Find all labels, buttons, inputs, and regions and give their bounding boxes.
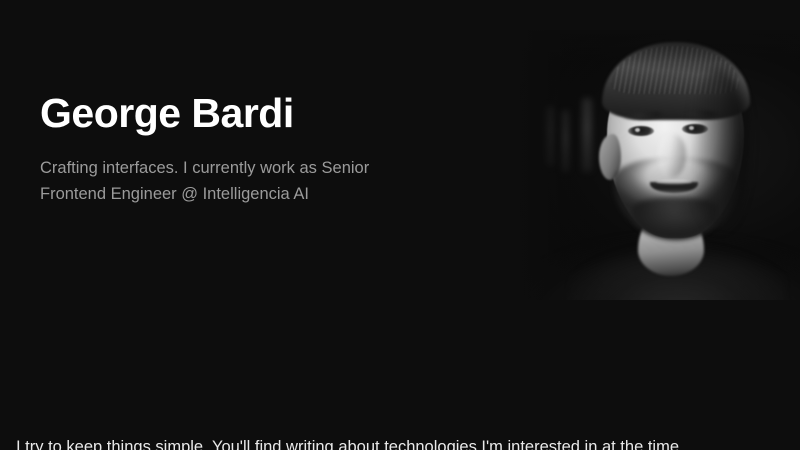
photo-eye-highlight [635,128,640,132]
background-light-bar [582,98,592,172]
photo-eye [628,126,654,136]
photo-mouth-highlight [656,180,692,184]
profile-page: George Bardi Crafting interfaces. I curr… [0,0,800,450]
background-light-bar [546,106,554,166]
hero-section: George Bardi Crafting interfaces. I curr… [40,92,460,207]
photo-backdrop [510,30,800,300]
profile-photo [510,30,800,300]
page-title: George Bardi [40,92,460,135]
hero-subtitle: Crafting interfaces. I currently work as… [40,155,425,207]
background-light-bar [562,110,569,172]
photo-face-shadow [690,68,748,228]
footer-note: I try to keep things simple. You'll find… [16,435,684,450]
